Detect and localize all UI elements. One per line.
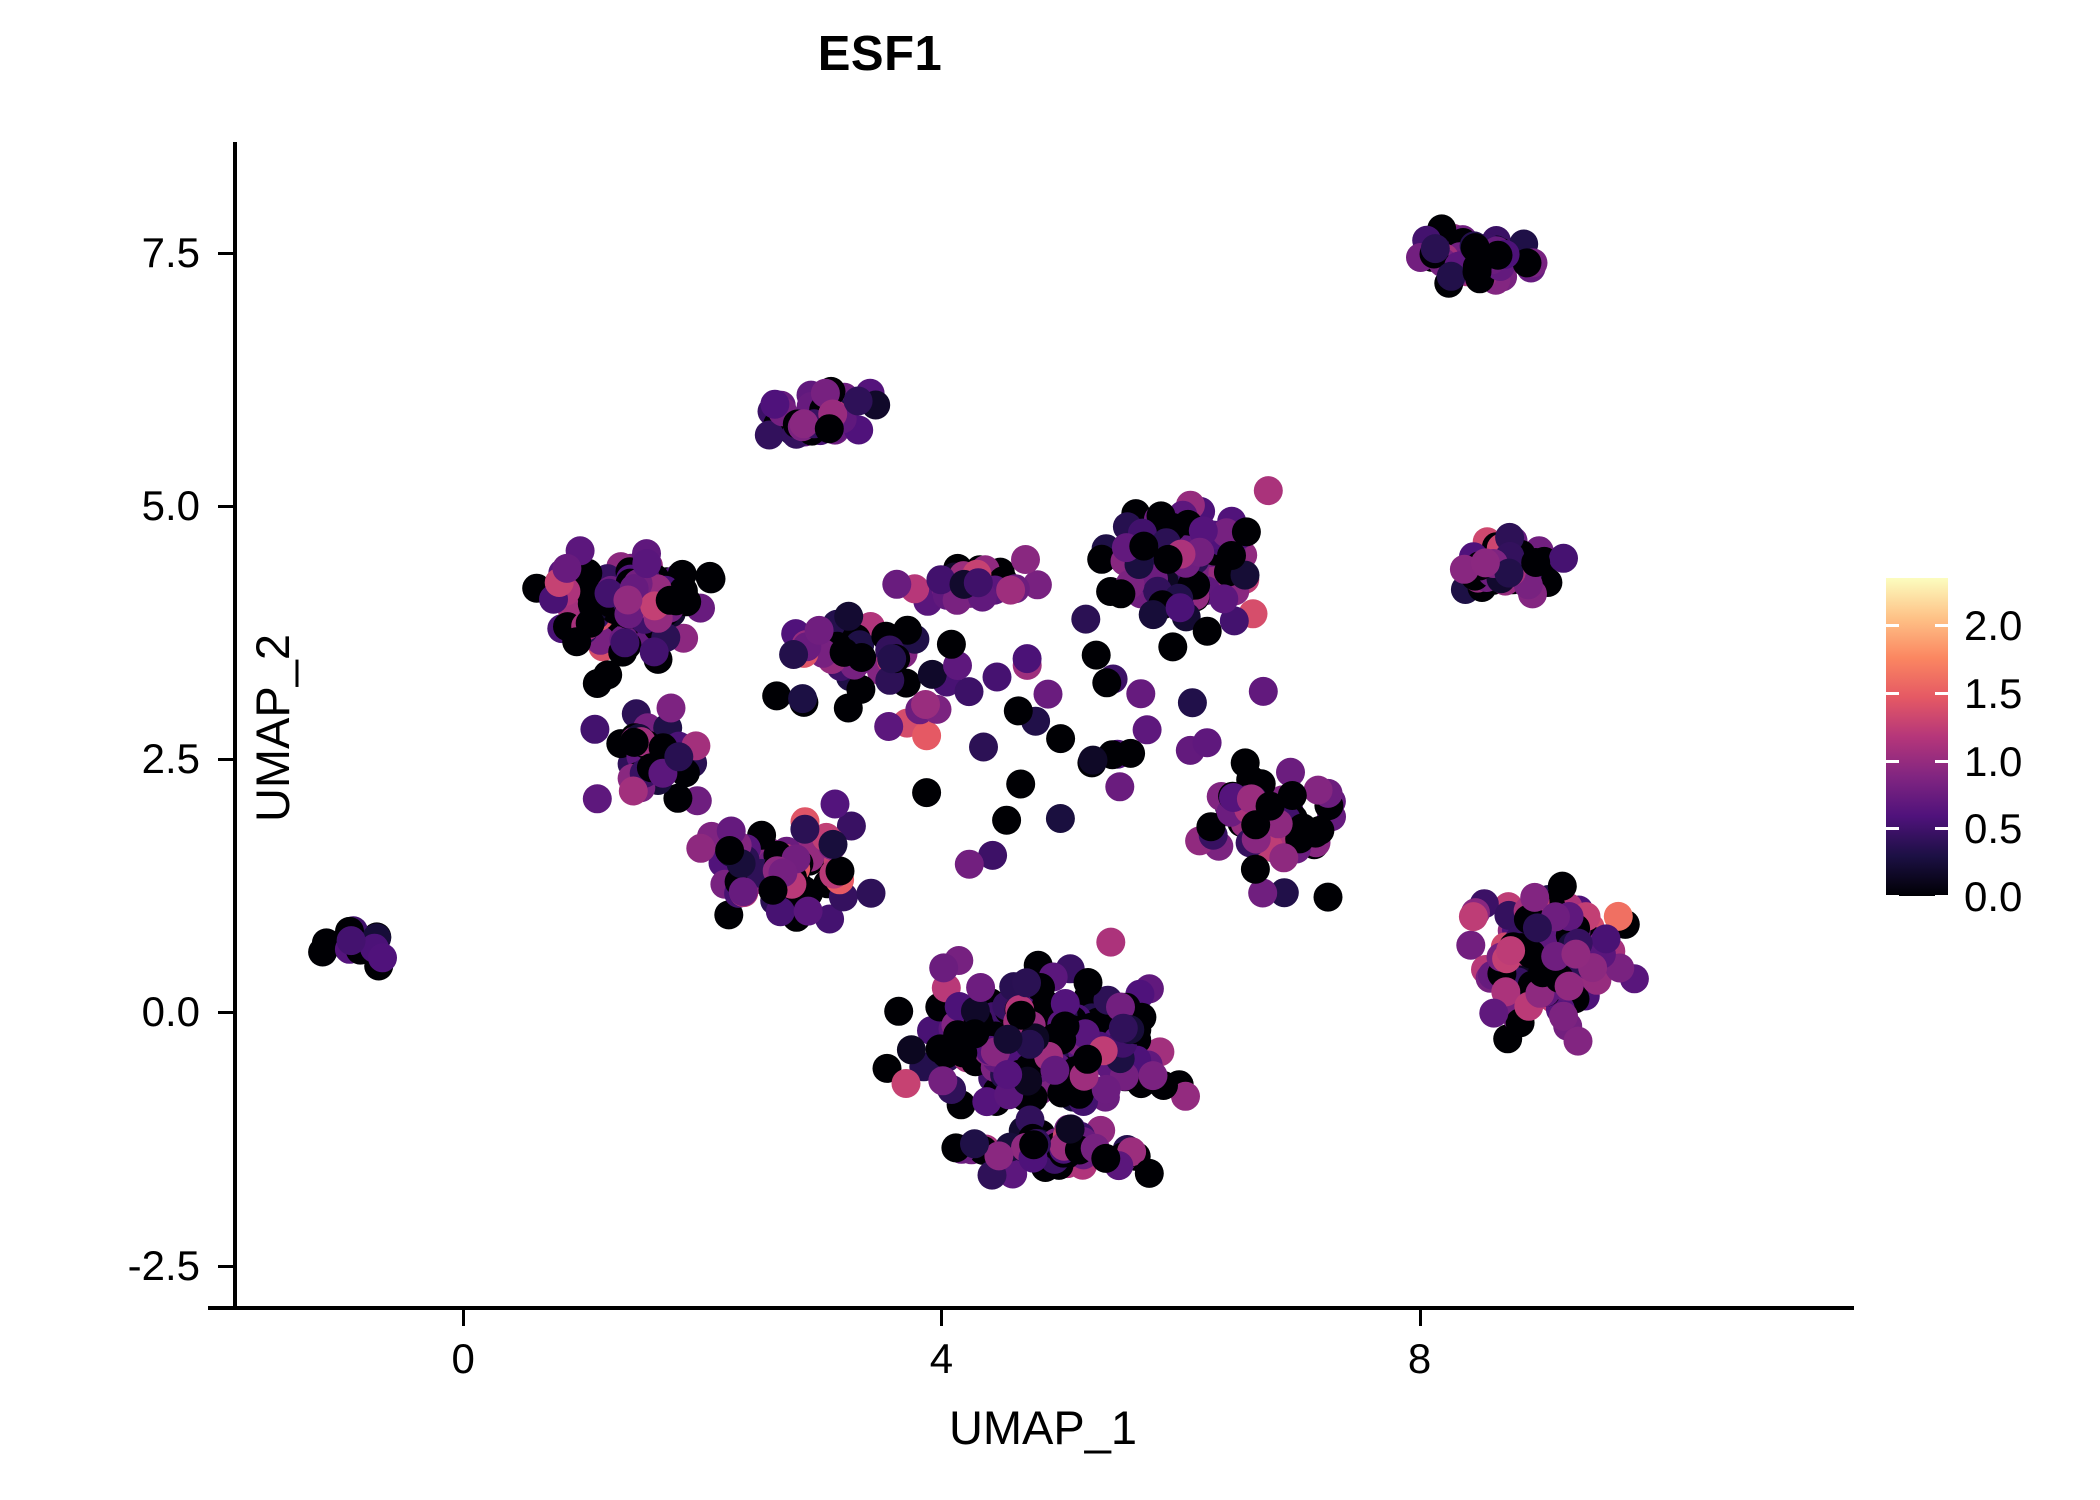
x-tick-label: 8 — [1360, 1338, 1480, 1380]
scatter-point — [789, 409, 818, 438]
y-tick-mark — [218, 758, 234, 761]
legend-tick-label: 2.0 — [1964, 605, 2094, 647]
scatter-point — [912, 721, 941, 750]
legend-tick-mark — [1886, 895, 1899, 898]
y-tick-label: -2.5 — [20, 1245, 200, 1287]
scatter-point — [1056, 1115, 1085, 1144]
scatter-point — [580, 715, 609, 744]
scatter-point — [1555, 972, 1584, 1001]
x-tick-mark — [462, 1310, 465, 1326]
legend-tick-mark — [1935, 760, 1948, 763]
legend-tick-mark — [1886, 827, 1899, 830]
scatter-point — [1564, 1027, 1593, 1056]
scatter-point — [911, 690, 940, 719]
scatter-point — [1106, 579, 1135, 608]
scatter-point — [715, 836, 744, 865]
scatter-point — [1217, 541, 1246, 570]
scatter-point — [1074, 968, 1103, 997]
legend-tick-label: 0.5 — [1964, 808, 2094, 850]
scatter-point — [1109, 1014, 1138, 1043]
scatter-point — [877, 644, 906, 673]
scatter-point — [1034, 680, 1063, 709]
scatter-point — [897, 1035, 926, 1064]
scatter-point — [729, 877, 758, 906]
scatter-point — [1073, 1045, 1102, 1074]
scatter-point — [1269, 843, 1298, 872]
scatter-point — [1139, 600, 1168, 629]
scatter-point — [1105, 772, 1134, 801]
scatter-points-layer — [236, 142, 1850, 1306]
plot-panel — [236, 142, 1850, 1306]
scatter-point — [834, 602, 863, 631]
x-axis-line — [208, 1306, 1854, 1310]
scatter-point — [583, 669, 612, 698]
scatter-point — [1549, 544, 1578, 573]
scatter-point — [1051, 1012, 1080, 1041]
scatter-point — [657, 694, 686, 723]
scatter-point — [656, 586, 685, 615]
scatter-point — [1521, 548, 1550, 577]
umap-feature-plot: ESF1 -2.50.02.55.07.5 048 UMAP_1 UMAP_2 … — [0, 0, 2100, 1500]
scatter-point — [759, 876, 788, 905]
scatter-point — [1096, 928, 1125, 957]
scatter-point — [830, 638, 859, 667]
scatter-point — [1304, 776, 1333, 805]
y-tick-mark — [218, 252, 234, 255]
scatter-point — [815, 414, 844, 443]
legend-tick-mark — [1886, 692, 1899, 695]
scatter-point — [610, 628, 639, 657]
scatter-point — [1082, 641, 1111, 670]
scatter-point — [969, 733, 998, 762]
scatter-point — [884, 997, 913, 1026]
scatter-point — [1004, 696, 1033, 725]
scatter-point — [1154, 545, 1183, 574]
scatter-point — [1158, 632, 1187, 661]
scatter-point — [992, 806, 1021, 835]
x-tick-label: 0 — [403, 1338, 523, 1380]
scatter-point — [1437, 262, 1466, 291]
scatter-point — [337, 926, 366, 955]
scatter-point — [1166, 593, 1195, 622]
scatter-point — [1496, 936, 1525, 965]
legend-tick-mark — [1935, 692, 1948, 695]
x-tick-mark — [940, 1310, 943, 1326]
legend-tick-label: 1.5 — [1964, 673, 2094, 715]
scatter-point — [779, 640, 808, 669]
scatter-point — [1241, 855, 1270, 884]
scatter-point — [1092, 668, 1121, 697]
scatter-point — [1561, 940, 1590, 969]
scatter-point — [964, 568, 993, 597]
scatter-point — [695, 562, 724, 591]
color-legend: 0.00.51.01.52.0 — [1886, 578, 2086, 908]
scatter-point — [1046, 804, 1075, 833]
scatter-point — [1013, 644, 1042, 673]
legend-tick-label: 1.0 — [1964, 741, 2094, 783]
y-tick-label: 7.5 — [20, 232, 200, 274]
scatter-point — [892, 1069, 921, 1098]
scatter-point — [1421, 234, 1450, 263]
scatter-point — [1019, 1130, 1048, 1159]
scatter-point — [664, 742, 693, 771]
scatter-point — [819, 830, 848, 859]
scatter-point — [790, 815, 819, 844]
scatter-point — [1256, 792, 1285, 821]
scatter-point — [874, 712, 903, 741]
scatter-point — [993, 1060, 1022, 1089]
scatter-point — [937, 630, 966, 659]
scatter-point — [1040, 1056, 1069, 1085]
scatter-point — [1012, 968, 1041, 997]
legend-tick-mark — [1935, 624, 1948, 627]
scatter-point — [1456, 931, 1485, 960]
scatter-point — [821, 790, 850, 819]
scatter-point — [1193, 617, 1222, 646]
page-title: ESF1 — [0, 24, 1760, 84]
y-axis-line — [233, 142, 237, 1308]
scatter-point — [1592, 924, 1621, 953]
scatter-point — [1071, 605, 1100, 634]
scatter-point — [368, 943, 397, 972]
scatter-point — [1548, 872, 1577, 901]
legend-tick-mark — [1935, 895, 1948, 898]
scatter-point — [983, 663, 1012, 692]
scatter-point — [1193, 728, 1222, 757]
scatter-point — [1046, 724, 1075, 753]
scatter-point — [857, 879, 886, 908]
scatter-point — [619, 777, 648, 806]
scatter-point — [1126, 679, 1155, 708]
scatter-point — [844, 387, 873, 416]
scatter-point — [1523, 913, 1552, 942]
scatter-point — [826, 857, 855, 886]
scatter-point — [955, 677, 984, 706]
scatter-point — [1314, 883, 1343, 912]
scatter-point — [632, 549, 661, 578]
scatter-point — [1011, 545, 1040, 574]
scatter-point — [686, 834, 715, 863]
scatter-point — [918, 660, 947, 689]
scatter-point — [1463, 257, 1492, 286]
scatter-point — [583, 784, 612, 813]
legend-tick-mark — [1886, 760, 1899, 763]
y-tick-mark — [218, 505, 234, 508]
y-tick-label: 0.0 — [20, 991, 200, 1033]
y-axis-title: UMAP_2 — [245, 146, 301, 1310]
scatter-point — [1079, 746, 1108, 775]
scatter-point — [929, 953, 958, 982]
scatter-point — [1288, 813, 1317, 842]
legend-tick-mark — [1886, 624, 1899, 627]
scatter-point — [960, 1129, 989, 1158]
legend-tick-mark — [1935, 827, 1948, 830]
scatter-point — [1139, 1061, 1168, 1090]
scatter-point — [928, 1066, 957, 1095]
scatter-point — [1231, 748, 1260, 777]
scatter-point — [966, 973, 995, 1002]
x-tick-mark — [1419, 1310, 1422, 1326]
scatter-point — [955, 850, 984, 879]
scatter-point — [1091, 1144, 1120, 1173]
y-tick-label: 2.5 — [20, 738, 200, 780]
scatter-point — [994, 1025, 1023, 1054]
scatter-point — [882, 570, 911, 599]
scatter-point — [794, 897, 823, 926]
scatter-point — [762, 681, 791, 710]
scatter-point — [1135, 1159, 1164, 1188]
scatter-point — [760, 390, 789, 419]
scatter-point — [640, 637, 669, 666]
scatter-point — [996, 576, 1025, 605]
scatter-point — [1479, 999, 1508, 1028]
scatter-point — [1459, 902, 1488, 931]
scatter-point — [562, 627, 591, 656]
x-tick-label: 4 — [881, 1338, 1001, 1380]
scatter-point — [1520, 883, 1549, 912]
scatter-point — [620, 728, 649, 757]
y-tick-mark — [218, 1011, 234, 1014]
scatter-point — [1254, 476, 1283, 505]
scatter-point — [788, 684, 817, 713]
scatter-point — [846, 675, 875, 704]
scatter-point — [1178, 688, 1207, 717]
scatter-point — [1249, 677, 1278, 706]
scatter-point — [1209, 584, 1238, 613]
legend-tick-label: 0.0 — [1964, 876, 2094, 918]
scatter-point — [1471, 548, 1500, 577]
scatter-point — [943, 1020, 972, 1049]
y-tick-label: 5.0 — [20, 485, 200, 527]
scatter-point — [1006, 770, 1035, 799]
x-axis-title: UMAP_1 — [236, 1400, 1850, 1456]
scatter-point — [805, 616, 834, 645]
scatter-point — [308, 938, 337, 967]
scatter-point — [912, 778, 941, 807]
scatter-point — [552, 554, 581, 583]
y-tick-mark — [218, 1265, 234, 1268]
scatter-point — [1133, 715, 1162, 744]
scatter-point — [1549, 1002, 1578, 1031]
scatter-point — [613, 586, 642, 615]
